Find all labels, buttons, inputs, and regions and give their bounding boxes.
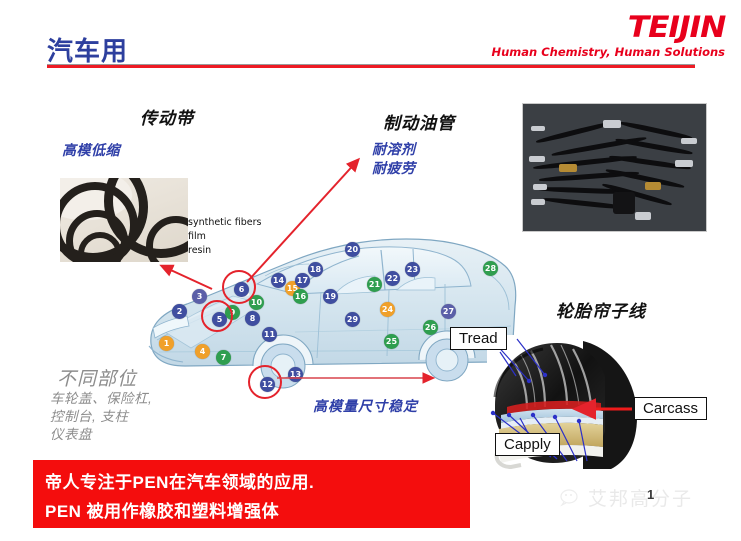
callout-carcass: Carcass [634, 397, 707, 420]
note-parts-heading: 不同部位 [57, 364, 137, 391]
car-marker-23: 23 [405, 262, 420, 277]
car-marker-18: 18 [308, 262, 323, 277]
banner-line-2: PEN 被用作橡胶和塑料增强体 [45, 497, 279, 522]
car-marker-14: 14 [271, 273, 286, 288]
heading-transmission-belt: 传动带 [140, 104, 194, 129]
car-marker-26: 26 [423, 320, 438, 335]
car-marker-13: 13 [288, 367, 303, 382]
car-highlight-circle-1 [201, 300, 233, 332]
heading-brake-hose: 制动油管 [383, 109, 455, 134]
car-highlight-circle-2 [222, 270, 256, 304]
car-marker-20: 20 [345, 242, 360, 257]
note-dimensional-stability: 高模量尺寸稳定 [313, 396, 418, 416]
watermark-text: 艾邦高分子 [588, 484, 693, 511]
car-marker-11: 11 [262, 327, 277, 342]
wechat-icon [560, 489, 582, 507]
note-belt: 高模低缩 [62, 141, 120, 160]
car-highlight-circle-3 [248, 365, 282, 399]
car-marker-27: 27 [441, 304, 456, 319]
heading-tire-cord: 轮胎帘子线 [556, 297, 646, 322]
car-marker-19: 19 [323, 289, 338, 304]
car-marker-4: 4 [195, 344, 210, 359]
brand-tagline: Human Chemistry, Human Solutions [491, 45, 725, 59]
watermark: 艾邦高分子 [560, 484, 693, 511]
car-marker-2: 2 [172, 304, 187, 319]
slide-root: TEIJIN Human Chemistry, Human Solutions … [0, 0, 741, 541]
car-marker-28: 28 [483, 261, 498, 276]
car-marker-1: 1 [159, 336, 174, 351]
car-marker-22: 22 [385, 271, 400, 286]
car-marker-3: 3 [192, 289, 207, 304]
summary-banner: 帝人专注于PEN在汽车领域的应用. PEN 被用作橡胶和塑料增强体 [33, 460, 470, 528]
page-title: 汽车用 [47, 31, 128, 68]
teijin-logo: TEIJIN [628, 10, 725, 44]
car-marker-29: 29 [345, 312, 360, 327]
banner-line-1: 帝人专注于PEN在汽车领域的应用. [45, 468, 314, 493]
car-marker-25: 25 [384, 334, 399, 349]
car-marker-7: 7 [216, 350, 231, 365]
note-parts-body: 车轮盖、保险杠, 控制台, 支柱 仪表盘 [50, 390, 152, 444]
car-marker-21: 21 [367, 277, 382, 292]
callout-tread: Tread [450, 327, 507, 350]
brake-hose-photo [522, 103, 707, 232]
car-marker-17: 17 [295, 273, 310, 288]
callout-capply: Capply [495, 433, 560, 456]
page-number: 1 [647, 487, 654, 502]
car-marker-layer: 1234567891011121314151617181920212223242… [145, 232, 517, 392]
car-marker-24: 24 [380, 302, 395, 317]
note-brake: 耐溶剂 耐疲劳 [372, 140, 416, 178]
car-marker-8: 8 [245, 311, 260, 326]
car-marker-16: 16 [293, 289, 308, 304]
title-divider [47, 64, 695, 68]
